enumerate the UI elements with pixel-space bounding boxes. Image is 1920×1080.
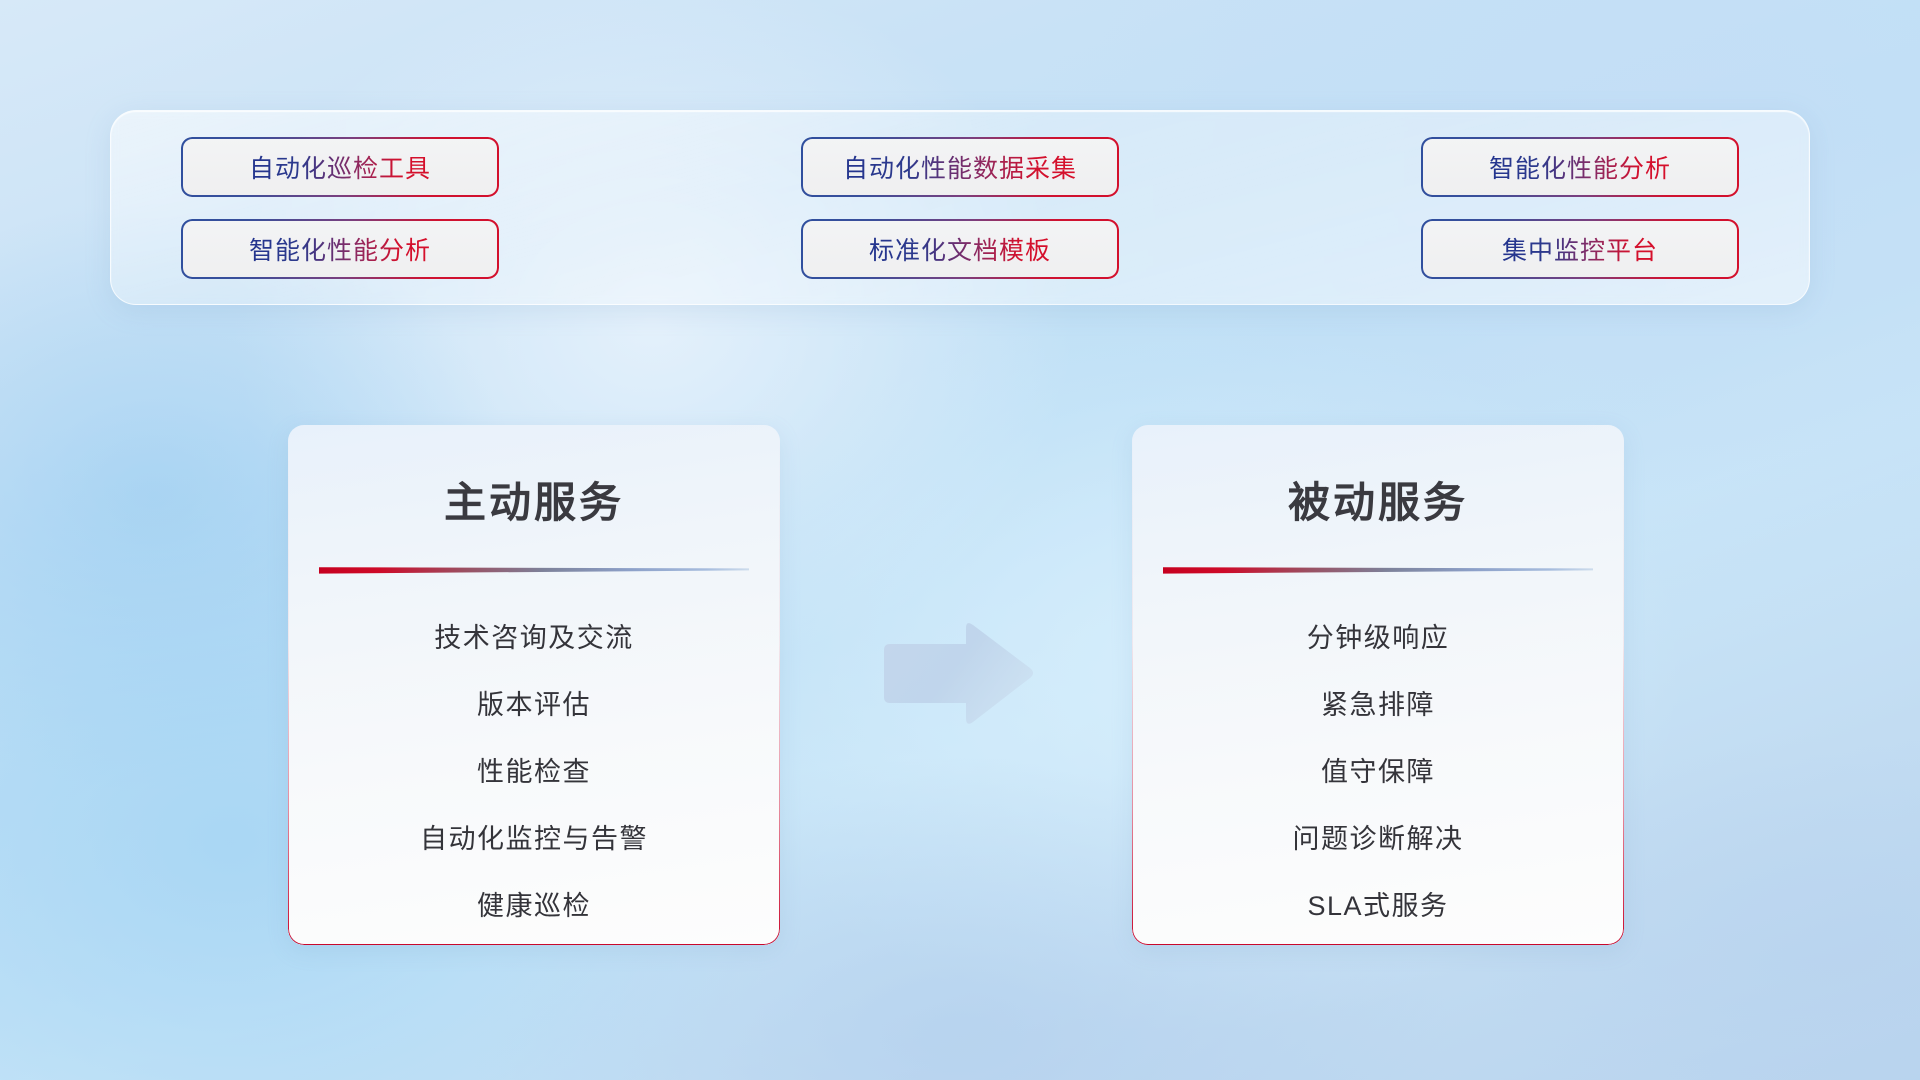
flow-arrow-right-icon bbox=[878, 618, 1038, 733]
list-item[interactable]: 紧急排障 bbox=[1321, 679, 1435, 732]
tag-chip-automated-inspection-tool[interactable]: 自动化巡检工具 bbox=[181, 137, 499, 197]
divider-gradient-line bbox=[319, 565, 749, 575]
list-item[interactable]: 技术咨询及交流 bbox=[434, 612, 634, 665]
list-item[interactable]: 健康巡检 bbox=[477, 880, 591, 933]
card-title: 主动服务 bbox=[288, 469, 780, 530]
list-item[interactable]: 自动化监控与告警 bbox=[420, 813, 648, 866]
list-item[interactable]: 版本评估 bbox=[477, 679, 591, 732]
card-divider bbox=[1163, 565, 1593, 575]
card-divider bbox=[319, 565, 749, 575]
tag-chip-label: 标准化文档模板 bbox=[869, 231, 1051, 267]
tag-chip-intelligent-performance-analysis[interactable]: 智能化性能分析 bbox=[1421, 137, 1739, 197]
tag-chip-intelligent-performance-analysis-2[interactable]: 智能化性能分析 bbox=[181, 219, 499, 279]
list-item[interactable]: 分钟级响应 bbox=[1307, 612, 1450, 665]
tag-row-2: 智能化性能分析 标准化文档模板 集中监控平台 bbox=[181, 219, 1739, 279]
tag-chip-label: 智能化性能分析 bbox=[1489, 149, 1671, 185]
list-item[interactable]: 性能检查 bbox=[477, 746, 591, 799]
list-item[interactable]: 值守保障 bbox=[1321, 746, 1435, 799]
divider-gradient-line bbox=[1163, 565, 1593, 575]
tag-chip-label: 自动化巡检工具 bbox=[249, 149, 431, 185]
tag-chip-centralized-monitoring-platform[interactable]: 集中监控平台 bbox=[1421, 219, 1739, 279]
service-card-proactive: 主动服务 技术咨询及交流 版本评估 性能检查 自动化监控与告警 健康巡检 bbox=[288, 425, 780, 945]
tag-chip-automated-performance-data-collection[interactable]: 自动化性能数据采集 bbox=[801, 137, 1119, 197]
service-card-reactive: 被动服务 分钟级响应 紧急排障 值守保障 问题诊断解决 SLA式服务 bbox=[1132, 425, 1624, 945]
tag-chip-standardized-document-template[interactable]: 标准化文档模板 bbox=[801, 219, 1119, 279]
list-item[interactable]: 问题诊断解决 bbox=[1293, 813, 1464, 866]
tag-chip-label: 集中监控平台 bbox=[1502, 231, 1658, 267]
service-item-list: 分钟级响应 紧急排障 值守保障 问题诊断解决 SLA式服务 bbox=[1132, 605, 1624, 940]
capability-tag-panel: 自动化巡检工具 自动化性能数据采集 智能化性能分析 智能化性能分析 标准化文档模… bbox=[110, 110, 1810, 305]
arrow-right-icon bbox=[878, 618, 1038, 733]
card-title: 被动服务 bbox=[1132, 469, 1624, 530]
service-item-list: 技术咨询及交流 版本评估 性能检查 自动化监控与告警 健康巡检 bbox=[288, 605, 780, 940]
tag-row-1: 自动化巡检工具 自动化性能数据采集 智能化性能分析 bbox=[181, 137, 1739, 197]
list-item[interactable]: SLA式服务 bbox=[1307, 880, 1448, 933]
tag-chip-label: 智能化性能分析 bbox=[249, 231, 431, 267]
tag-chip-label: 自动化性能数据采集 bbox=[843, 149, 1077, 185]
